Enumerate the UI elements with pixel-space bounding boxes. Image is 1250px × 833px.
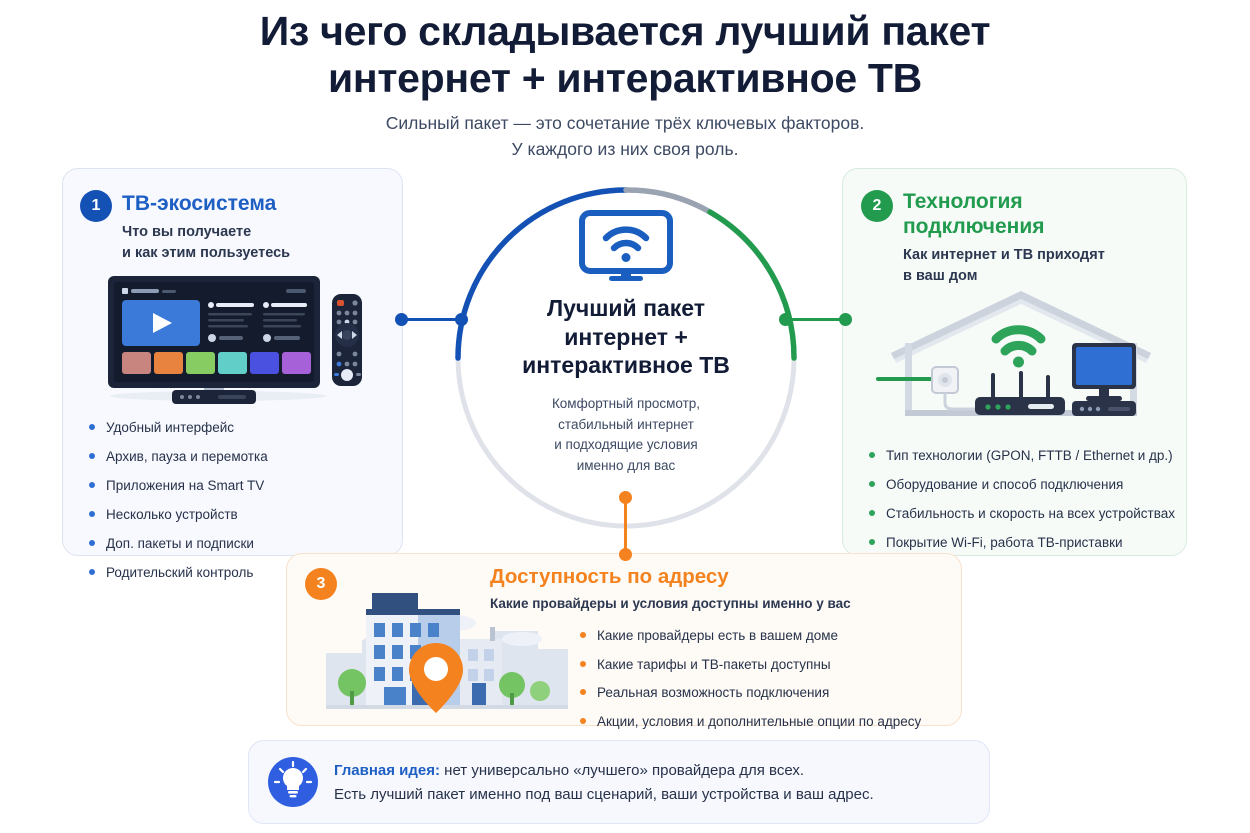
hub-desc-line4: именно для вас xyxy=(484,456,768,477)
card-tech-title-line2: подключения xyxy=(903,215,1093,240)
card-number-badge-2: 2 xyxy=(861,190,893,222)
hub-title-line2: интернет + xyxy=(470,323,782,352)
card-tv-subtitle-line2: и как этим пользуетесь xyxy=(122,243,372,264)
connector-dot xyxy=(395,313,408,326)
hub-desc-line2: стабильный интернет xyxy=(484,415,768,436)
key-idea-text: Главная идея: нет универсально «лучшего»… xyxy=(334,759,974,808)
card-tv-title: ТВ-экосистема xyxy=(122,192,382,217)
list-item: Покрытие Wi-Fi, работа ТВ-приставки xyxy=(869,533,1175,553)
connector-dot xyxy=(839,313,852,326)
card-tv-bullet-list: Удобный интерфейс Архив, пауза и перемот… xyxy=(89,418,268,592)
card-tech-title-line1: Технология xyxy=(903,190,1093,215)
card-tech-bullet-list: Тип технологии (GPON, FTTB / Ethernet и … xyxy=(869,446,1175,562)
card-tech-title: Технология подключения xyxy=(903,190,1093,239)
list-item: Приложения на Smart TV xyxy=(89,476,268,496)
list-item: Родительский контроль xyxy=(89,563,268,583)
key-idea-line1: Главная идея: нет универсально «лучшего»… xyxy=(334,759,974,783)
infographic-root: Из чего складывается лучший пакет интерн… xyxy=(0,0,1250,833)
connector-line xyxy=(624,497,627,555)
connector-dot xyxy=(619,548,632,561)
card-number-badge-1: 1 xyxy=(80,190,112,222)
list-item: Несколько устройств xyxy=(89,505,268,525)
page-title-line1: Из чего складывается лучший пакет xyxy=(0,8,1250,55)
page-title: Из чего складывается лучший пакет интерн… xyxy=(0,8,1250,102)
card-tech-subtitle-line1: Как интернет и ТВ приходят xyxy=(903,245,1143,266)
list-item: Удобный интерфейс xyxy=(89,418,268,438)
city-map-pin-illustration xyxy=(326,567,568,719)
hub-desc-line3: и подходящие условия xyxy=(484,435,768,456)
center-hub: Лучший пакет интернет + интерактивное ТВ… xyxy=(450,182,802,534)
list-item: Оборудование и способ подключения xyxy=(869,475,1175,495)
list-item: Доп. пакеты и подписки xyxy=(89,534,268,554)
list-item: Какие провайдеры есть в вашем доме xyxy=(580,626,921,646)
list-item: Тип технологии (GPON, FTTB / Ethernet и … xyxy=(869,446,1175,466)
card-address-bullet-list: Какие провайдеры есть в вашем доме Какие… xyxy=(580,626,921,740)
page-subtitle: Сильный пакет — это сочетание трёх ключе… xyxy=(0,110,1250,163)
lightbulb-icon xyxy=(268,757,318,807)
list-item: Архив, пауза и перемотка xyxy=(89,447,268,467)
card-tech-subtitle: Как интернет и ТВ приходят в ваш дом xyxy=(903,245,1143,287)
house-router-illustration xyxy=(876,283,1166,428)
hub-title: Лучший пакет интернет + интерактивное ТВ xyxy=(470,294,782,380)
hub-description: Комфортный просмотр, стабильный интернет… xyxy=(484,394,768,476)
page-subtitle-line2: У каждого из них своя роль. xyxy=(0,136,1250,162)
connector-dot xyxy=(619,491,632,504)
page-title-line2: интернет + интерактивное ТВ xyxy=(0,55,1250,102)
hub-title-line3: интерактивное ТВ xyxy=(470,351,782,380)
hub-desc-line1: Комфортный просмотр, xyxy=(484,394,768,415)
page-subtitle-line1: Сильный пакет — это сочетание трёх ключе… xyxy=(0,110,1250,136)
list-item: Стабильность и скорость на всех устройст… xyxy=(869,504,1175,524)
card-tv-subtitle: Что вы получаете и как этим пользуетесь xyxy=(122,222,372,264)
list-item: Акции, условия и дополнительные опции по… xyxy=(580,712,921,732)
list-item: Какие тарифы и ТВ-пакеты доступны xyxy=(580,655,921,675)
card-tv-subtitle-line1: Что вы получаете xyxy=(122,222,372,243)
tv-wifi-icon xyxy=(576,210,676,282)
key-idea-lead: Главная идея: xyxy=(334,762,440,779)
list-item: Реальная возможность подключения xyxy=(580,683,921,703)
connector-dot xyxy=(455,313,468,326)
key-idea-line2: Есть лучший пакет именно под ваш сценари… xyxy=(334,783,974,807)
connector-dot xyxy=(779,313,792,326)
key-idea-tail: нет универсально «лучшего» провайдера дл… xyxy=(440,762,804,779)
smart-tv-remote-illustration xyxy=(100,272,366,404)
hub-title-line1: Лучший пакет xyxy=(470,294,782,323)
